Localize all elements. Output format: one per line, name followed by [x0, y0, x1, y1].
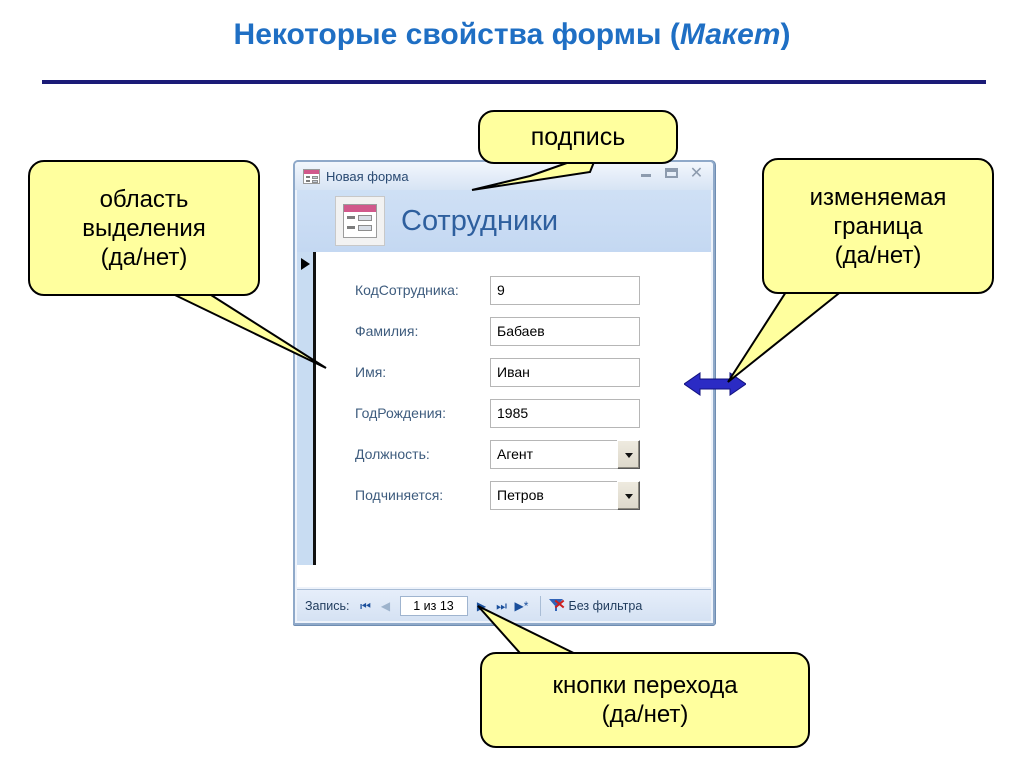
- window-controls: ✕: [639, 166, 704, 181]
- field-label-imya: Имя:: [355, 364, 490, 380]
- field-input-kodsotrudnika[interactable]: 9: [490, 276, 640, 305]
- form-body: КодСотрудника: 9 Фамилия: Бабаев Имя: Ив…: [297, 252, 711, 587]
- restore-icon[interactable]: [664, 166, 679, 181]
- field-input-godrozhdeniya[interactable]: 1985: [490, 399, 640, 428]
- form-header-icon: [335, 196, 385, 246]
- callout-nav-buttons-text: кнопки перехода (да/нет): [544, 667, 745, 733]
- field-input-imya[interactable]: Иван: [490, 358, 640, 387]
- field-row: Фамилия: Бабаев: [355, 315, 685, 347]
- page-title: Некоторые свойства формы (Макет): [0, 18, 1024, 52]
- form-icon: [303, 169, 320, 184]
- field-value-imya: Иван: [491, 364, 530, 380]
- chevron-down-icon[interactable]: [617, 440, 640, 469]
- record-counter-input[interactable]: 1 из 13: [400, 596, 468, 616]
- callout-border-tail: [726, 282, 856, 392]
- record-nav-label: Запись:: [305, 599, 350, 613]
- field-label-familiya: Фамилия:: [355, 323, 490, 339]
- first-record-icon[interactable]: ⏮: [358, 596, 374, 616]
- field-label-podchinyaetsya: Подчиняется:: [355, 487, 490, 503]
- slide-canvas: Некоторые свойства формы (Макет) Новая ф…: [0, 0, 1024, 767]
- callout-resizable-border-text: изменяемая граница (да/нет): [802, 179, 955, 274]
- form-caption: Сотрудники: [401, 205, 558, 238]
- callout-selection-area-text: область выделения (да/нет): [74, 181, 214, 276]
- field-label-kodsotrudnika: КодСотрудника:: [355, 282, 490, 298]
- field-row: ГодРождения: 1985: [355, 397, 685, 429]
- field-label-dolzhnost: Должность:: [355, 446, 490, 462]
- field-row: КодСотрудника: 9: [355, 274, 685, 306]
- field-combobox-dolzhnost[interactable]: Агент: [490, 440, 640, 469]
- field-label-godrozhdeniya: ГодРождения:: [355, 405, 490, 421]
- minimize-icon[interactable]: [639, 166, 654, 181]
- page-title-tail: ): [780, 18, 790, 51]
- current-record-triangle-icon: [301, 258, 310, 270]
- field-row: Имя: Иван: [355, 356, 685, 388]
- callout-caption: подпись: [478, 110, 678, 164]
- access-form-window: Новая форма ✕ Сотрудники: [293, 160, 715, 625]
- field-row: Подчиняется: Петров: [355, 479, 685, 511]
- chevron-down-icon[interactable]: [617, 481, 640, 510]
- callout-nav-buttons: кнопки перехода (да/нет): [480, 652, 810, 748]
- page-title-main: Некоторые свойства формы (: [234, 18, 680, 51]
- field-value-dolzhnost: Агент: [491, 446, 533, 462]
- field-value-podchinyaetsya: Петров: [491, 487, 544, 503]
- field-combobox-podchinyaetsya[interactable]: Петров: [490, 481, 640, 510]
- previous-record-icon[interactable]: ◀: [378, 596, 394, 616]
- field-value-godrozhdeniya: 1985: [491, 405, 528, 421]
- field-value-familiya: Бабаев: [491, 323, 545, 339]
- page-title-italic: Макет: [680, 18, 781, 51]
- window-title: Новая форма: [326, 169, 409, 184]
- callout-selection-area: область выделения (да/нет): [28, 160, 260, 296]
- title-divider: [42, 80, 986, 84]
- field-input-familiya[interactable]: Бабаев: [490, 317, 640, 346]
- callout-resizable-border: изменяемая граница (да/нет): [762, 158, 994, 294]
- form-fields: КодСотрудника: 9 Фамилия: Бабаев Имя: Ив…: [355, 274, 685, 520]
- field-value-kodsotrudnika: 9: [491, 282, 505, 298]
- field-row: Должность: Агент: [355, 438, 685, 470]
- close-icon[interactable]: ✕: [689, 166, 704, 181]
- callout-caption-text: подпись: [523, 119, 634, 156]
